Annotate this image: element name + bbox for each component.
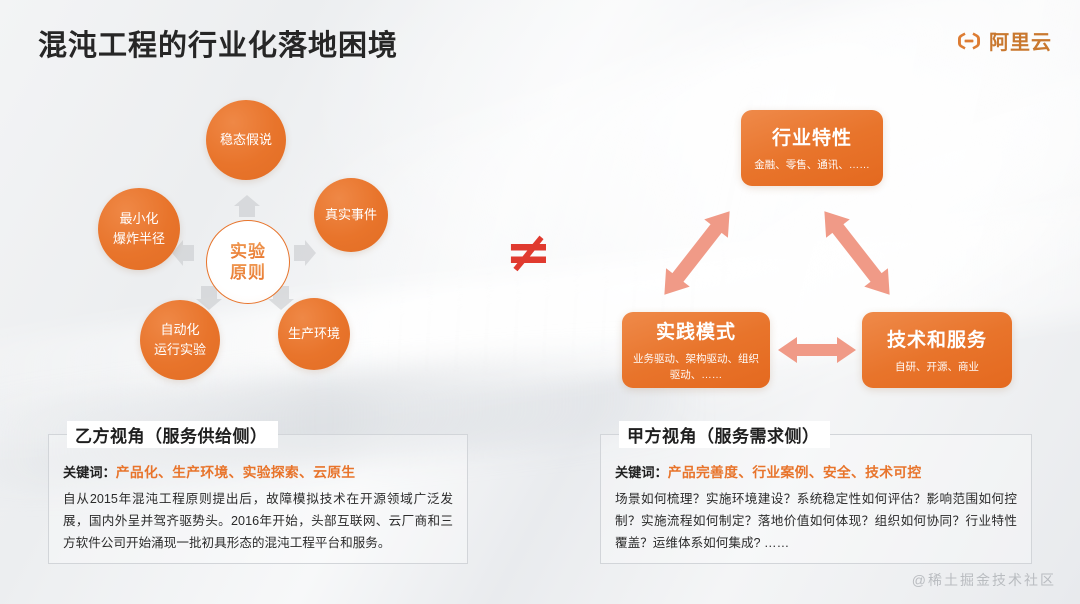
principle-node-steady-state-hypothesis[interactable]: 稳态假说 <box>206 100 286 180</box>
card-title: 技术和服务 <box>887 325 987 352</box>
node-label: 运行实验 <box>154 340 206 360</box>
principle-node-minimize-blast-radius[interactable]: 最小化 爆炸半径 <box>98 188 180 270</box>
industry-card-practice-model[interactable]: 实践模式 业务驱动、架构驱动、组织驱动、…… <box>622 312 770 388</box>
keyword-value: 产品完善度、行业案例、安全、技术可控 <box>668 465 922 480</box>
principle-node-production-environment[interactable]: 生产环境 <box>278 298 350 370</box>
card-title: 行业特性 <box>772 123 852 150</box>
alibaba-cloud-logo-icon <box>956 28 982 54</box>
panel-body: 关键词：产品化、生产环境、实验探索、云原生 自从2015年混沌工程原则提出后，故… <box>49 435 467 565</box>
panel-body: 关键词：产品完善度、行业案例、安全、技术可控 场景如何梳理？实施环境建设？系统稳… <box>601 435 1031 565</box>
core-label-line2: 原则 <box>230 262 266 283</box>
keyword-label: 关键词： <box>63 465 116 480</box>
panel-paragraph: 自从2015年混沌工程原则提出后，故障模拟技术在开源领域广泛发展，国内外呈并驾齐… <box>63 488 453 555</box>
keyword-label: 关键词： <box>615 465 668 480</box>
panel-customer-perspective: 甲方视角（服务需求侧） 关键词：产品完善度、行业案例、安全、技术可控 场景如何梳… <box>600 434 1032 564</box>
arrow-practice-to-industry <box>662 198 732 308</box>
principle-node-automated-experiments[interactable]: 自动化 运行实验 <box>140 300 220 380</box>
node-label: 爆炸半径 <box>113 229 165 249</box>
card-title: 实践模式 <box>656 317 736 344</box>
brand-logo: 阿里云 <box>956 26 1052 55</box>
node-label: 最小化 <box>119 209 158 229</box>
panel-paragraph: 场景如何梳理？实施环境建设？系统稳定性如何评估？影响范围如何控制？实施流程如何制… <box>615 488 1017 555</box>
core-label-line1: 实验 <box>230 241 266 262</box>
industry-landing-diagram: 行业特性 金融、零售、通讯、…… 实践模式 业务驱动、架构驱动、组织驱动、…… … <box>600 100 1040 400</box>
arrow-practice-tech-bidirectional <box>776 333 858 367</box>
slide-title: 混沌工程的行业化落地困境 <box>38 22 398 64</box>
node-label: 稳态假说 <box>220 130 272 150</box>
industry-card-technology-and-service[interactable]: 技术和服务 自研、开源、商业 <box>862 312 1012 388</box>
industry-card-industry-characteristics[interactable]: 行业特性 金融、零售、通讯、…… <box>741 110 883 186</box>
node-label: 自动化 <box>160 320 199 340</box>
slide-canvas: 混沌工程的行业化落地困境 阿里云 稳态假说 <box>0 0 1080 604</box>
keyword-row: 关键词：产品化、生产环境、实验探索、云原生 <box>63 461 453 486</box>
node-label: 生产环境 <box>288 324 340 344</box>
card-subtitle: 自研、开源、商业 <box>895 360 979 376</box>
keyword-row: 关键词：产品完善度、行业案例、安全、技术可控 <box>615 461 1017 486</box>
not-equal-symbol: ≠ <box>505 225 552 281</box>
panel-supplier-perspective: 乙方视角（服务供给侧） 关键词：产品化、生产环境、实验探索、云原生 自从2015… <box>48 434 468 564</box>
arrow-tech-to-industry <box>822 198 892 308</box>
card-subtitle: 业务驱动、架构驱动、组织驱动、…… <box>631 352 761 384</box>
principle-node-real-events[interactable]: 真实事件 <box>314 178 388 252</box>
keyword-value: 产品化、生产环境、实验探索、云原生 <box>116 465 356 480</box>
principles-core-circle[interactable]: 实验 原则 <box>206 220 290 304</box>
node-label: 真实事件 <box>325 205 377 225</box>
card-subtitle: 金融、零售、通讯、…… <box>754 158 870 174</box>
experiment-principles-diagram: 稳态假说 真实事件 生产环境 自动化 运行实验 最小化 爆炸半径 实验 原则 <box>88 100 418 400</box>
brand-name: 阿里云 <box>989 26 1052 55</box>
panel-heading: 甲方视角（服务需求侧） <box>619 421 830 448</box>
watermark: @稀土掘金技术社区 <box>912 570 1056 590</box>
panel-heading: 乙方视角（服务供给侧） <box>67 421 278 448</box>
